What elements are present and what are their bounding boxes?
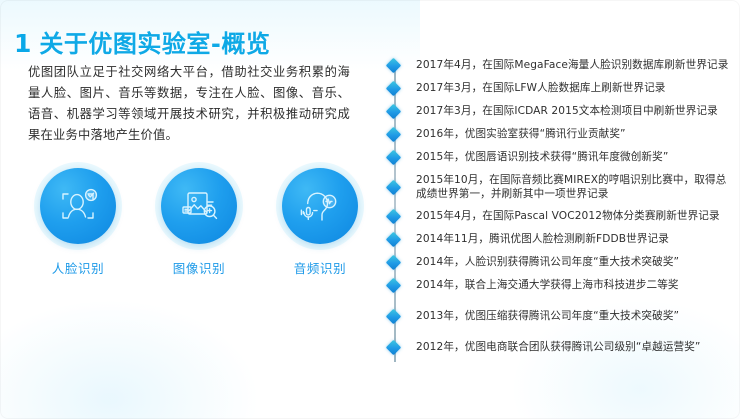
timeline-item-text: 2017年4月，在国际MegaFace海量人脸识别数据库刷新世界记录 (416, 58, 728, 72)
capability-label: 人脸识别 (52, 258, 104, 277)
timeline-item-text: 2017年3月，在国际ICDAR 2015文本检测项目中刷新世界记录 (416, 104, 718, 118)
timeline-marker-icon (386, 105, 404, 117)
face-recognition-icon (40, 168, 116, 244)
timeline-marker-icon (386, 233, 404, 245)
page-title: 1 关于优图实验室-概览 (14, 24, 270, 59)
title-number: 1 (14, 29, 31, 58)
image-recognition-icon (161, 168, 237, 244)
timeline-item: 2012年，优图电商联合团队获得腾讯公司级别“卓越运营奖” (386, 340, 701, 354)
timeline-item: 2017年3月，在国际LFW人脸数据库上刷新世界记录 (386, 81, 665, 95)
bottom-left-glow (0, 299, 260, 419)
title-text: 关于优图实验室-概览 (39, 24, 270, 59)
timeline-item: 2014年，人脸识别获得腾讯公司年度“重大技术突破奖” (386, 255, 679, 269)
capability-item-image[interactable]: 图像识别 (145, 168, 253, 277)
timeline-marker-icon (386, 181, 404, 193)
timeline-marker-icon (386, 210, 404, 222)
timeline-item: 2015年，优图唇语识别技术获得“腾讯年度微创新奖” (386, 150, 668, 164)
timeline-item-text: 2015年10月，在国际音频比赛MIREX的哼唱识别比赛中，取得总成绩世界第一，… (416, 173, 728, 201)
timeline-marker-icon (386, 59, 404, 71)
capability-item-audio[interactable]: 音频识别 (266, 168, 374, 277)
timeline-item: 2015年10月，在国际音频比赛MIREX的哼唱识别比赛中，取得总成绩世界第一，… (386, 173, 728, 201)
timeline-marker-icon (386, 341, 404, 353)
timeline-item-text: 2014年11月，腾讯优图人脸检测刷新FDDB世界记录 (416, 232, 669, 246)
capability-list: 人脸识别 图像识别 (24, 168, 374, 277)
slide-root: 1 关于优图实验室-概览 优图团队立足于社交网络大平台，借助社交业务积累的海量人… (0, 0, 740, 419)
timeline-item-text: 2012年，优图电商联合团队获得腾讯公司级别“卓越运营奖” (416, 340, 701, 354)
capability-item-face[interactable]: 人脸识别 (24, 168, 132, 277)
timeline-marker-icon (386, 256, 404, 268)
timeline-marker-icon (386, 128, 404, 140)
timeline-item: 2015年4月，在国际Pascal VOC2012物体分类赛刷新世界记录 (386, 209, 720, 223)
audio-recognition-icon (282, 168, 358, 244)
timeline-item-text: 2015年4月，在国际Pascal VOC2012物体分类赛刷新世界记录 (416, 209, 720, 223)
timeline-marker-icon (386, 82, 404, 94)
timeline-item: 2013年，优图压缩获得腾讯公司年度“重大技术突破奖” (386, 309, 679, 323)
intro-paragraph: 优图团队立足于社交网络大平台，借助社交业务积累的海量人脸、图片、音乐等数据，专注… (28, 62, 350, 146)
timeline-item: 2014年11月，腾讯优图人脸检测刷新FDDB世界记录 (386, 232, 669, 246)
timeline-item: 2014年，联合上海交通大学获得上海市科技进步二等奖 (386, 278, 679, 292)
timeline-item-text: 2016年，优图实验室获得“腾讯行业贡献奖” (416, 127, 626, 141)
timeline-item-text: 2014年，人脸识别获得腾讯公司年度“重大技术突破奖” (416, 255, 679, 269)
timeline-item-text: 2013年，优图压缩获得腾讯公司年度“重大技术突破奖” (416, 309, 679, 323)
timeline-marker-icon (386, 310, 404, 322)
timeline-marker-icon (386, 151, 404, 163)
timeline-item: 2016年，优图实验室获得“腾讯行业贡献奖” (386, 127, 626, 141)
timeline-item: 2017年4月，在国际MegaFace海量人脸识别数据库刷新世界记录 (386, 58, 728, 72)
timeline: 2017年4月，在国际MegaFace海量人脸识别数据库刷新世界记录 2017年… (386, 58, 730, 366)
timeline-item: 2017年3月，在国际ICDAR 2015文本检测项目中刷新世界记录 (386, 104, 718, 118)
capability-label: 图像识别 (173, 258, 225, 277)
timeline-item-text: 2014年，联合上海交通大学获得上海市科技进步二等奖 (416, 278, 679, 292)
timeline-item-text: 2015年，优图唇语识别技术获得“腾讯年度微创新奖” (416, 150, 668, 164)
timeline-item-text: 2017年3月，在国际LFW人脸数据库上刷新世界记录 (416, 81, 665, 95)
capability-label: 音频识别 (294, 258, 346, 277)
timeline-marker-icon (386, 279, 404, 291)
